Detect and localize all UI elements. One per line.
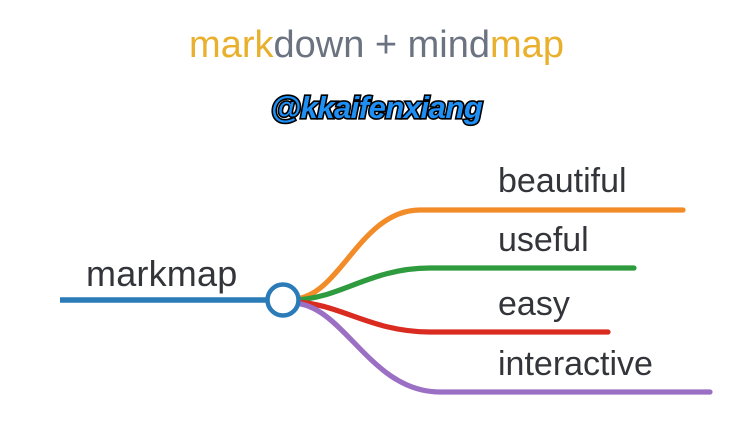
branch-label-easy[interactable]: easy xyxy=(498,285,570,324)
markmap-slide: markdown + mindmap @kkaifenxiang markmap… xyxy=(0,0,753,445)
branch-label-interactive[interactable]: interactive xyxy=(498,345,653,384)
title-part-mindmap-map: map xyxy=(490,24,564,66)
header: markdown + mindmap @kkaifenxiang xyxy=(0,0,753,140)
title-part-mindmap-mind: mind xyxy=(408,24,490,66)
title-part-plus: + xyxy=(364,24,407,66)
title-part-markdown-mark: mark xyxy=(189,24,273,66)
title-part-markdown-down: down xyxy=(274,24,365,66)
root-node-circle[interactable] xyxy=(268,285,299,316)
branch-label-useful[interactable]: useful xyxy=(498,221,589,260)
branch-line-useful xyxy=(294,268,634,300)
root-node-label[interactable]: markmap xyxy=(86,253,237,295)
handle-watermark: @kkaifenxiang xyxy=(271,88,483,128)
subtitle-container: @kkaifenxiang xyxy=(0,88,753,134)
page-title: markdown + mindmap xyxy=(0,22,753,68)
branch-label-beautiful[interactable]: beautiful xyxy=(498,162,627,201)
mindmap-canvas: markmap beautiful useful easy interactiv… xyxy=(0,140,753,445)
